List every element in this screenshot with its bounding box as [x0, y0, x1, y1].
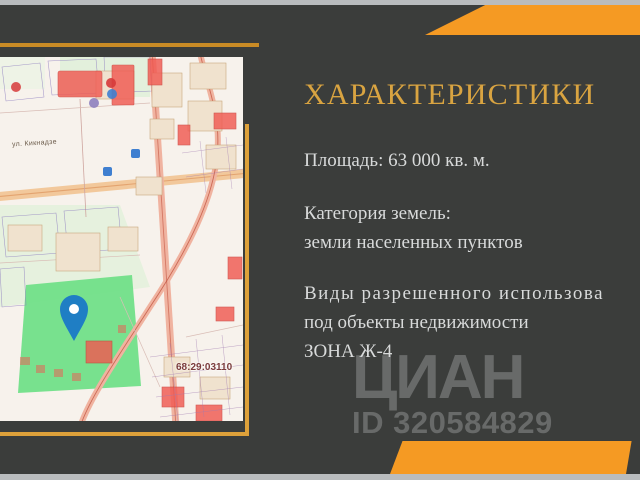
detail-category-value: земли населенных пунктов [304, 228, 640, 257]
details-list: Площадь: 63 000 кв. м. Категория земель:… [304, 146, 640, 366]
orange-top-accent-shape [425, 5, 640, 35]
detail-usage-label: Виды разрешенного использова [304, 279, 640, 308]
map-cadastral-number-label: 68:29:03110 [176, 362, 232, 373]
map-frame-right-line [245, 124, 249, 436]
top-edge-strip [0, 0, 640, 5]
detail-category-label: Категория земель: [304, 199, 640, 228]
presentation-slide: ул. Кикнадзе 68:29:03110 ХАРАКТЕРИСТИКИ … [0, 0, 640, 480]
page-title: ХАРАКТЕРИСТИКИ [304, 78, 640, 112]
characteristics-panel: ХАРАКТЕРИСТИКИ Площадь: 63 000 кв. м. Ка… [282, 78, 640, 366]
detail-zone-value: ЗОНА Ж-4 [304, 337, 640, 366]
cian-watermark-id: ID 320584829 [352, 406, 553, 440]
detail-usage-value: под объекты недвижимости [304, 308, 640, 337]
cadastral-map[interactable]: ул. Кикнадзе 68:29:03110 [0, 57, 243, 421]
bottom-edge-strip [0, 474, 640, 480]
orange-bottom-accent-bar [390, 441, 640, 474]
map-frame-bottom-line [0, 432, 249, 436]
map-frame-top-line [0, 43, 259, 47]
detail-area: Площадь: 63 000 кв. м. [304, 146, 640, 175]
